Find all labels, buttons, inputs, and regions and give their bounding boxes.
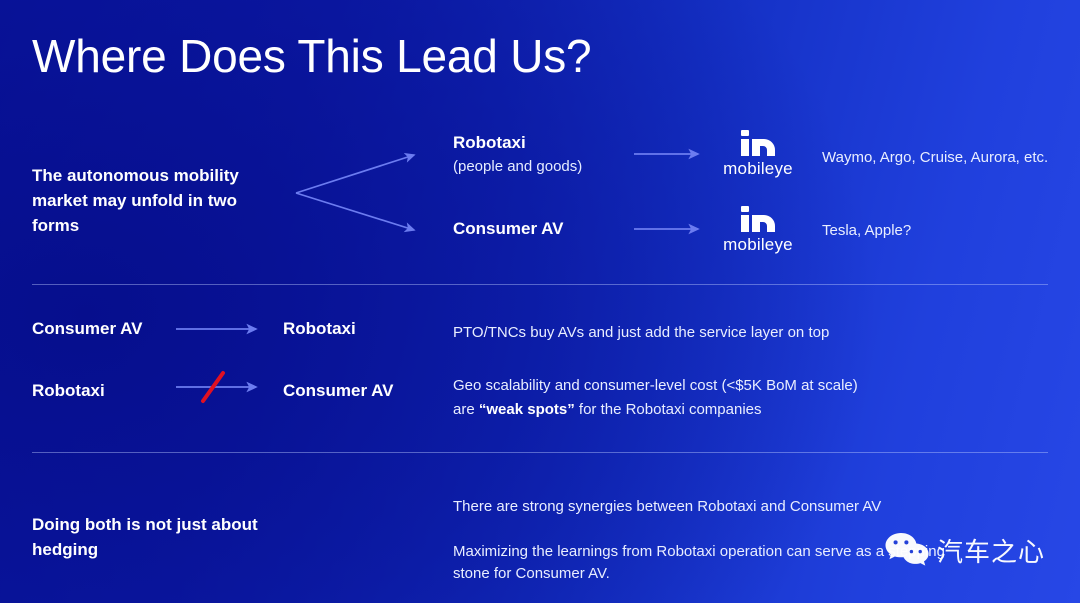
flow-from-robotaxi: Robotaxi [32, 381, 105, 401]
branching-arrow [292, 145, 432, 245]
branch-sublabel-robotaxi: (people and goods) [453, 158, 582, 175]
slide-title: Where Does This Lead Us? [32, 31, 591, 82]
presentation-slide: Where Does This Lead Us? The autonomous … [0, 0, 1080, 603]
flow-note-row2-line1: Geo scalability and consumer-level cost … [453, 374, 973, 397]
arrow-robotaxi-to-consumer-av-blocked [176, 370, 272, 404]
note-emphasis: “weak spots” [479, 401, 575, 418]
mobileye-logo-icon [741, 130, 775, 156]
mobileye-wordmark: mobileye [698, 235, 818, 255]
section-divider-bottom [32, 452, 1048, 453]
watermark: 汽车之心 [884, 531, 1045, 569]
vendor-logo-mobileye-consumer-av: mobileye [698, 206, 818, 255]
branch-label-consumer-av: Consumer AV [453, 219, 564, 239]
flow-from-consumer-av: Consumer AV [32, 319, 143, 339]
bottom-note-1: There are strong synergies between Robot… [453, 495, 1013, 518]
vendor-logo-mobileye-robotaxi: mobileye [698, 130, 818, 179]
watermark-text: 汽车之心 [937, 532, 1045, 569]
arrow-consumer-av-to-robotaxi [176, 323, 272, 335]
section-divider-top [32, 284, 1048, 285]
mobileye-wordmark: mobileye [698, 159, 818, 179]
note-post: for the Robotaxi companies [575, 401, 762, 418]
flow-to-robotaxi: Robotaxi [283, 319, 356, 339]
companies-consumer-av: Tesla, Apple? [822, 219, 1072, 242]
flow-to-consumer-av: Consumer AV [283, 381, 394, 401]
flow-note-row1: PTO/TNCs buy AVs and just add the servic… [453, 321, 973, 344]
mobileye-logo-icon [741, 206, 775, 232]
bottom-section-lead-text: Doing both is not just about hedging [32, 512, 262, 562]
note-pre: are [453, 401, 479, 418]
flow-note-row2-line2: are “weak spots” for the Robotaxi compan… [453, 398, 973, 421]
companies-robotaxi: Waymo, Argo, Cruise, Aurora, etc. [822, 146, 1072, 169]
top-section-lead-text: The autonomous mobility market may unfol… [32, 163, 262, 238]
branch-label-robotaxi: Robotaxi [453, 133, 526, 153]
wechat-icon [884, 531, 930, 569]
